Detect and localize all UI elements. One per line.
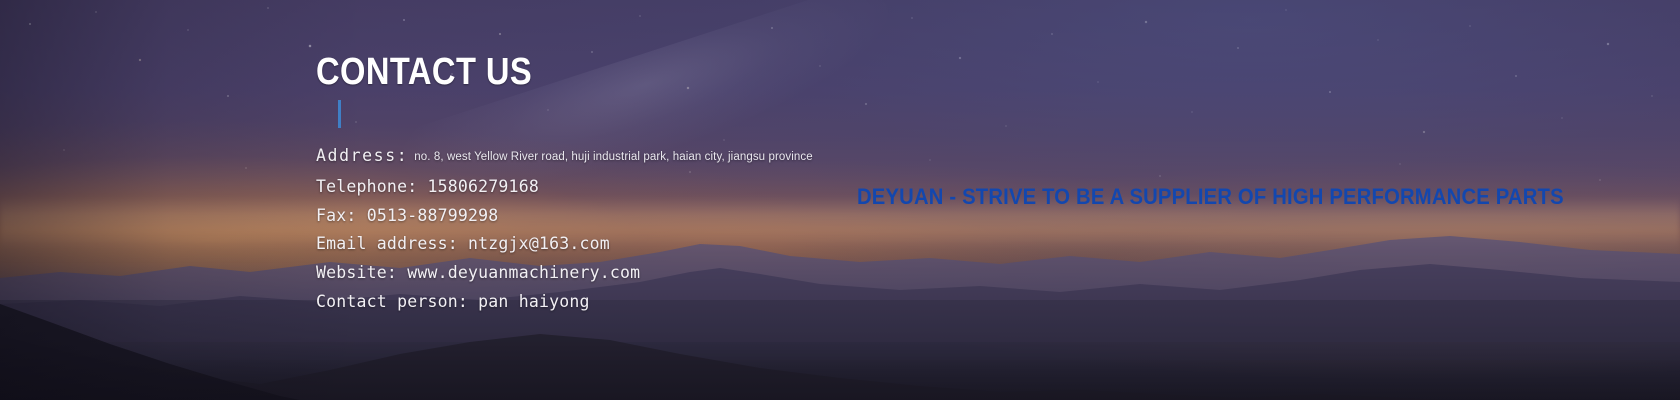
contact-row-email: Email address: ntzgjx@163.com — [316, 230, 1076, 259]
contact-details-list: Address:no. 8, west Yellow River road, h… — [316, 142, 1076, 317]
contact-person-value: pan haiyong — [478, 292, 589, 311]
website-value[interactable]: www.deyuanmachinery.com — [407, 263, 640, 282]
fax-value: 0513-88799298 — [367, 206, 499, 225]
page-title: CONTACT US — [316, 52, 532, 92]
banner-content: CONTACT US Address:no. 8, west Yellow Ri… — [0, 0, 1680, 400]
contact-us-banner: CONTACT US Address:no. 8, west Yellow Ri… — [0, 0, 1680, 400]
title-accent-bar — [338, 100, 341, 128]
contact-row-contact-person: Contact person: pan haiyong — [316, 288, 1076, 317]
company-slogan: DEYUAN - STRIVE TO BE A SUPPLIER OF HIGH… — [857, 182, 1564, 212]
contact-block: CONTACT US Address:no. 8, west Yellow Ri… — [316, 52, 567, 92]
contact-row-website: Website: www.deyuanmachinery.com — [316, 259, 1076, 288]
telephone-value[interactable]: 15806279168 — [427, 177, 538, 196]
fax-label: Fax: — [316, 206, 357, 225]
email-value[interactable]: ntzgjx@163.com — [468, 234, 610, 253]
address-value: no. 8, west Yellow River road, huji indu… — [408, 151, 812, 163]
email-label: Email address: — [316, 234, 458, 253]
contact-person-label: Contact person: — [316, 292, 468, 311]
contact-row-address: Address:no. 8, west Yellow River road, h… — [316, 142, 1076, 173]
telephone-label: Telephone: — [316, 177, 417, 196]
website-label: Website: — [316, 263, 397, 282]
address-label: Address: — [316, 146, 408, 165]
